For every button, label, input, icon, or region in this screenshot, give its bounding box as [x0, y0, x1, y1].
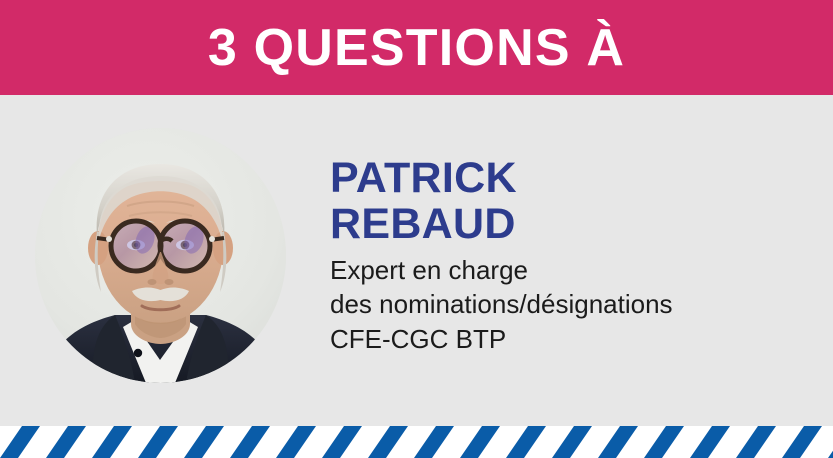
person-first-name: PATRICK	[330, 155, 800, 201]
body-area: PATRICK REBAUD Expert en charge des nomi…	[0, 95, 833, 426]
page-title: 3 QUESTIONS À	[208, 22, 625, 74]
decorative-stripe-band	[0, 426, 833, 458]
person-role-line-1: Expert en charge	[330, 253, 800, 287]
person-role-line-3: CFE-CGC BTP	[330, 322, 800, 356]
person-name: PATRICK REBAUD	[330, 155, 800, 247]
person-role: Expert en charge des nominations/désigna…	[330, 253, 800, 356]
portrait-illustration	[35, 128, 286, 383]
person-role-line-2: des nominations/désignations	[330, 287, 800, 321]
diagonal-stripes-icon	[0, 426, 833, 458]
avatar	[35, 128, 286, 383]
card-root: 3 QUESTIONS À	[0, 0, 833, 458]
person-info: PATRICK REBAUD Expert en charge des nomi…	[330, 155, 800, 356]
person-last-name: REBAUD	[330, 201, 800, 247]
header-band: 3 QUESTIONS À	[0, 0, 833, 95]
jacket-button	[134, 349, 142, 357]
glasses-bridge	[161, 239, 172, 241]
